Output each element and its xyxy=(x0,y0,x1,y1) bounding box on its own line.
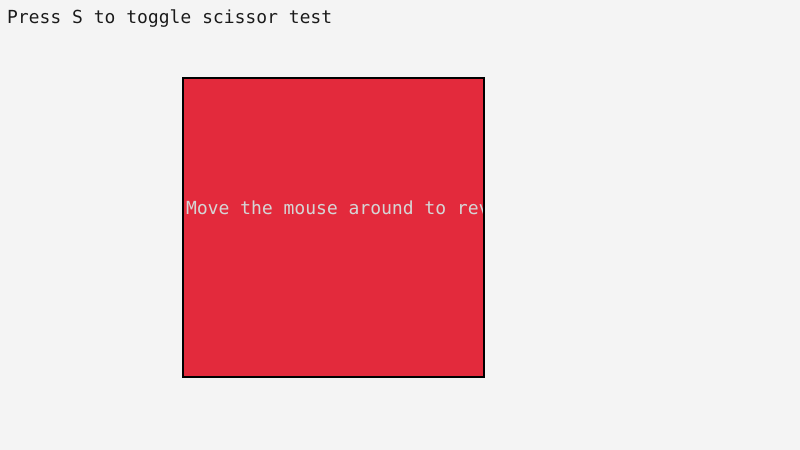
scissor-toggle-hint: Press S to toggle scissor test xyxy=(7,7,332,29)
scissor-rectangle[interactable]: Move the mouse around to reveal the rest xyxy=(182,77,485,378)
app-canvas: Press S to toggle scissor test Move the … xyxy=(0,0,800,450)
scissor-clipped-label: Move the mouse around to reveal the rest xyxy=(186,198,485,220)
